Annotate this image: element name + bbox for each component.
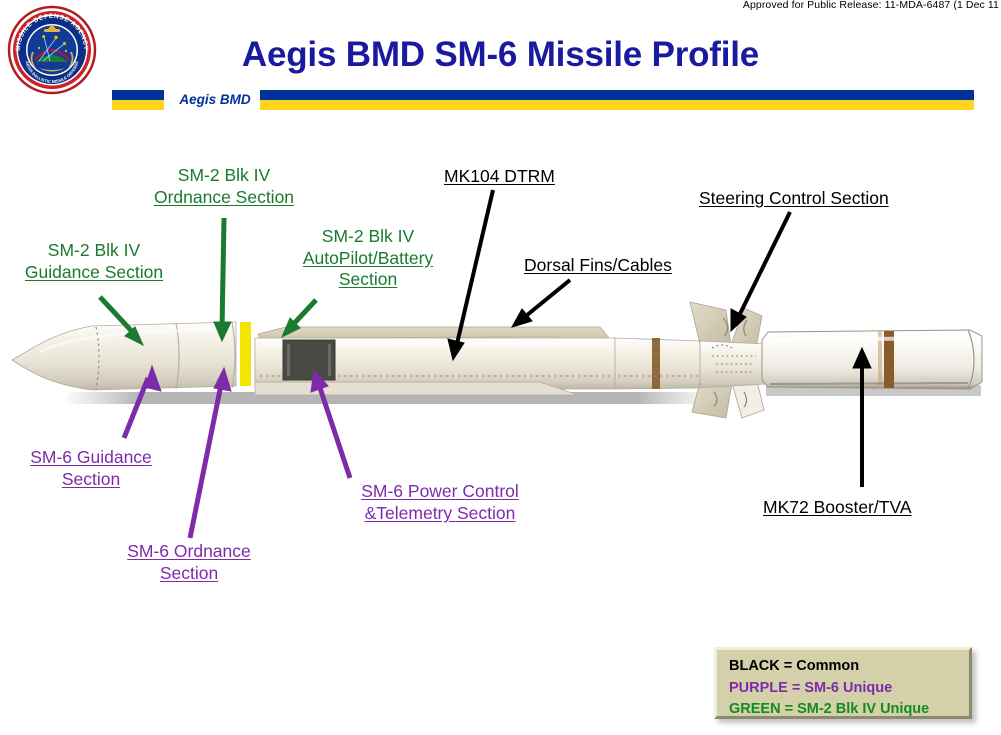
callout-line: SM-2 Blk IV bbox=[16, 240, 172, 262]
legend-row-green: GREEN = SM-2 Blk IV Unique bbox=[729, 699, 969, 721]
missile-aft-body bbox=[615, 338, 700, 389]
yellow-band bbox=[240, 322, 251, 386]
banner-label: Aegis BMD bbox=[172, 90, 258, 110]
steering-control-fins bbox=[690, 302, 765, 418]
missile-shadow bbox=[60, 385, 981, 404]
legend-row-black: BLACK = Common bbox=[729, 656, 969, 678]
callout-line: MK72 Booster/TVA bbox=[763, 497, 912, 519]
mk72-booster bbox=[762, 330, 982, 389]
missile-diagram bbox=[0, 0, 1001, 735]
banner-yellow-stripe bbox=[260, 100, 974, 110]
callout-sm6-ordnance: SM-6 Ordnance Section bbox=[112, 541, 266, 584]
legend-row-purple: PURPLE = SM-6 Unique bbox=[729, 678, 969, 700]
power-control-panel bbox=[283, 340, 335, 380]
leader-arrow-dorsal-fins bbox=[512, 280, 570, 327]
callout-line: SM-6 Power Control bbox=[342, 481, 538, 503]
callout-line: SM-6 Ordnance bbox=[112, 541, 266, 563]
callout-sm6-power-telemetry: SM-6 Power Control &Telemetry Section bbox=[342, 481, 538, 524]
callout-line: Guidance Section bbox=[16, 262, 172, 284]
booster-brown-band bbox=[884, 331, 894, 388]
callout-line: SM-2 Blk IV bbox=[142, 165, 306, 187]
callout-line: SM-2 Blk IV bbox=[292, 226, 444, 248]
leader-arrow-sm6-guidance bbox=[124, 366, 161, 438]
banner-blue-stripe bbox=[112, 90, 164, 100]
callout-line: AutoPilot/Battery bbox=[292, 248, 444, 270]
leader-arrow-sm2-guidance bbox=[100, 297, 143, 345]
release-notice: Approved for Public Release: 11-MDA-6487… bbox=[743, 0, 999, 11]
banner-bar: Aegis BMD bbox=[112, 90, 974, 110]
missile-mid-body bbox=[255, 337, 615, 395]
banner-segment-right bbox=[260, 90, 974, 110]
callout-steering-control-section: Steering Control Section bbox=[699, 188, 889, 210]
leader-arrow-mk104-dtrm bbox=[448, 190, 493, 360]
banner-blue-stripe bbox=[260, 90, 974, 100]
leader-arrow-sm6-power-telemetry bbox=[311, 370, 350, 478]
callout-line: Dorsal Fins/Cables bbox=[524, 255, 672, 277]
callout-line: Section bbox=[14, 469, 168, 491]
callout-sm2-ordnance: SM-2 Blk IV Ordnance Section bbox=[142, 165, 306, 208]
dorsal-fin-raceway bbox=[258, 327, 614, 344]
callout-line: Steering Control Section bbox=[699, 188, 889, 210]
leader-arrow-sm6-ordnance bbox=[190, 368, 231, 538]
leader-arrow-steering-control bbox=[731, 212, 790, 331]
callout-sm2-guidance: SM-2 Blk IV Guidance Section bbox=[16, 240, 172, 283]
callout-sm6-guidance: SM-6 Guidance Section bbox=[14, 447, 168, 490]
callout-line: SM-6 Guidance bbox=[14, 447, 168, 469]
page-title: Aegis BMD SM-6 Missile Profile bbox=[0, 35, 1001, 75]
slide-canvas: Approved for Public Release: 11-MDA-6487… bbox=[0, 0, 1001, 735]
callout-line: Section bbox=[292, 269, 444, 291]
banner-yellow-stripe bbox=[112, 100, 164, 110]
callout-mk104-dtrm: MK104 DTRM bbox=[444, 166, 555, 188]
callout-sm2-autopilot: SM-2 Blk IV AutoPilot/Battery Section bbox=[292, 226, 444, 291]
callout-dorsal-fins-cables: Dorsal Fins/Cables bbox=[524, 255, 672, 277]
color-legend: BLACK = Common PURPLE = SM-6 Unique GREE… bbox=[714, 647, 972, 719]
callout-mk72-booster-tva: MK72 Booster/TVA bbox=[763, 497, 912, 519]
banner-segment-left bbox=[112, 90, 164, 110]
leader-arrow-sm2-ordnance bbox=[214, 218, 231, 341]
leader-arrow-mk72-booster bbox=[853, 348, 871, 487]
callout-line: MK104 DTRM bbox=[444, 166, 555, 188]
missile-forward-body bbox=[12, 322, 236, 390]
aft-brown-band bbox=[652, 338, 660, 389]
leader-arrow-sm2-autopilot bbox=[282, 300, 316, 337]
callout-line: Section bbox=[112, 563, 266, 585]
callout-line: &Telemetry Section bbox=[342, 503, 538, 525]
callout-line: Ordnance Section bbox=[142, 187, 306, 209]
